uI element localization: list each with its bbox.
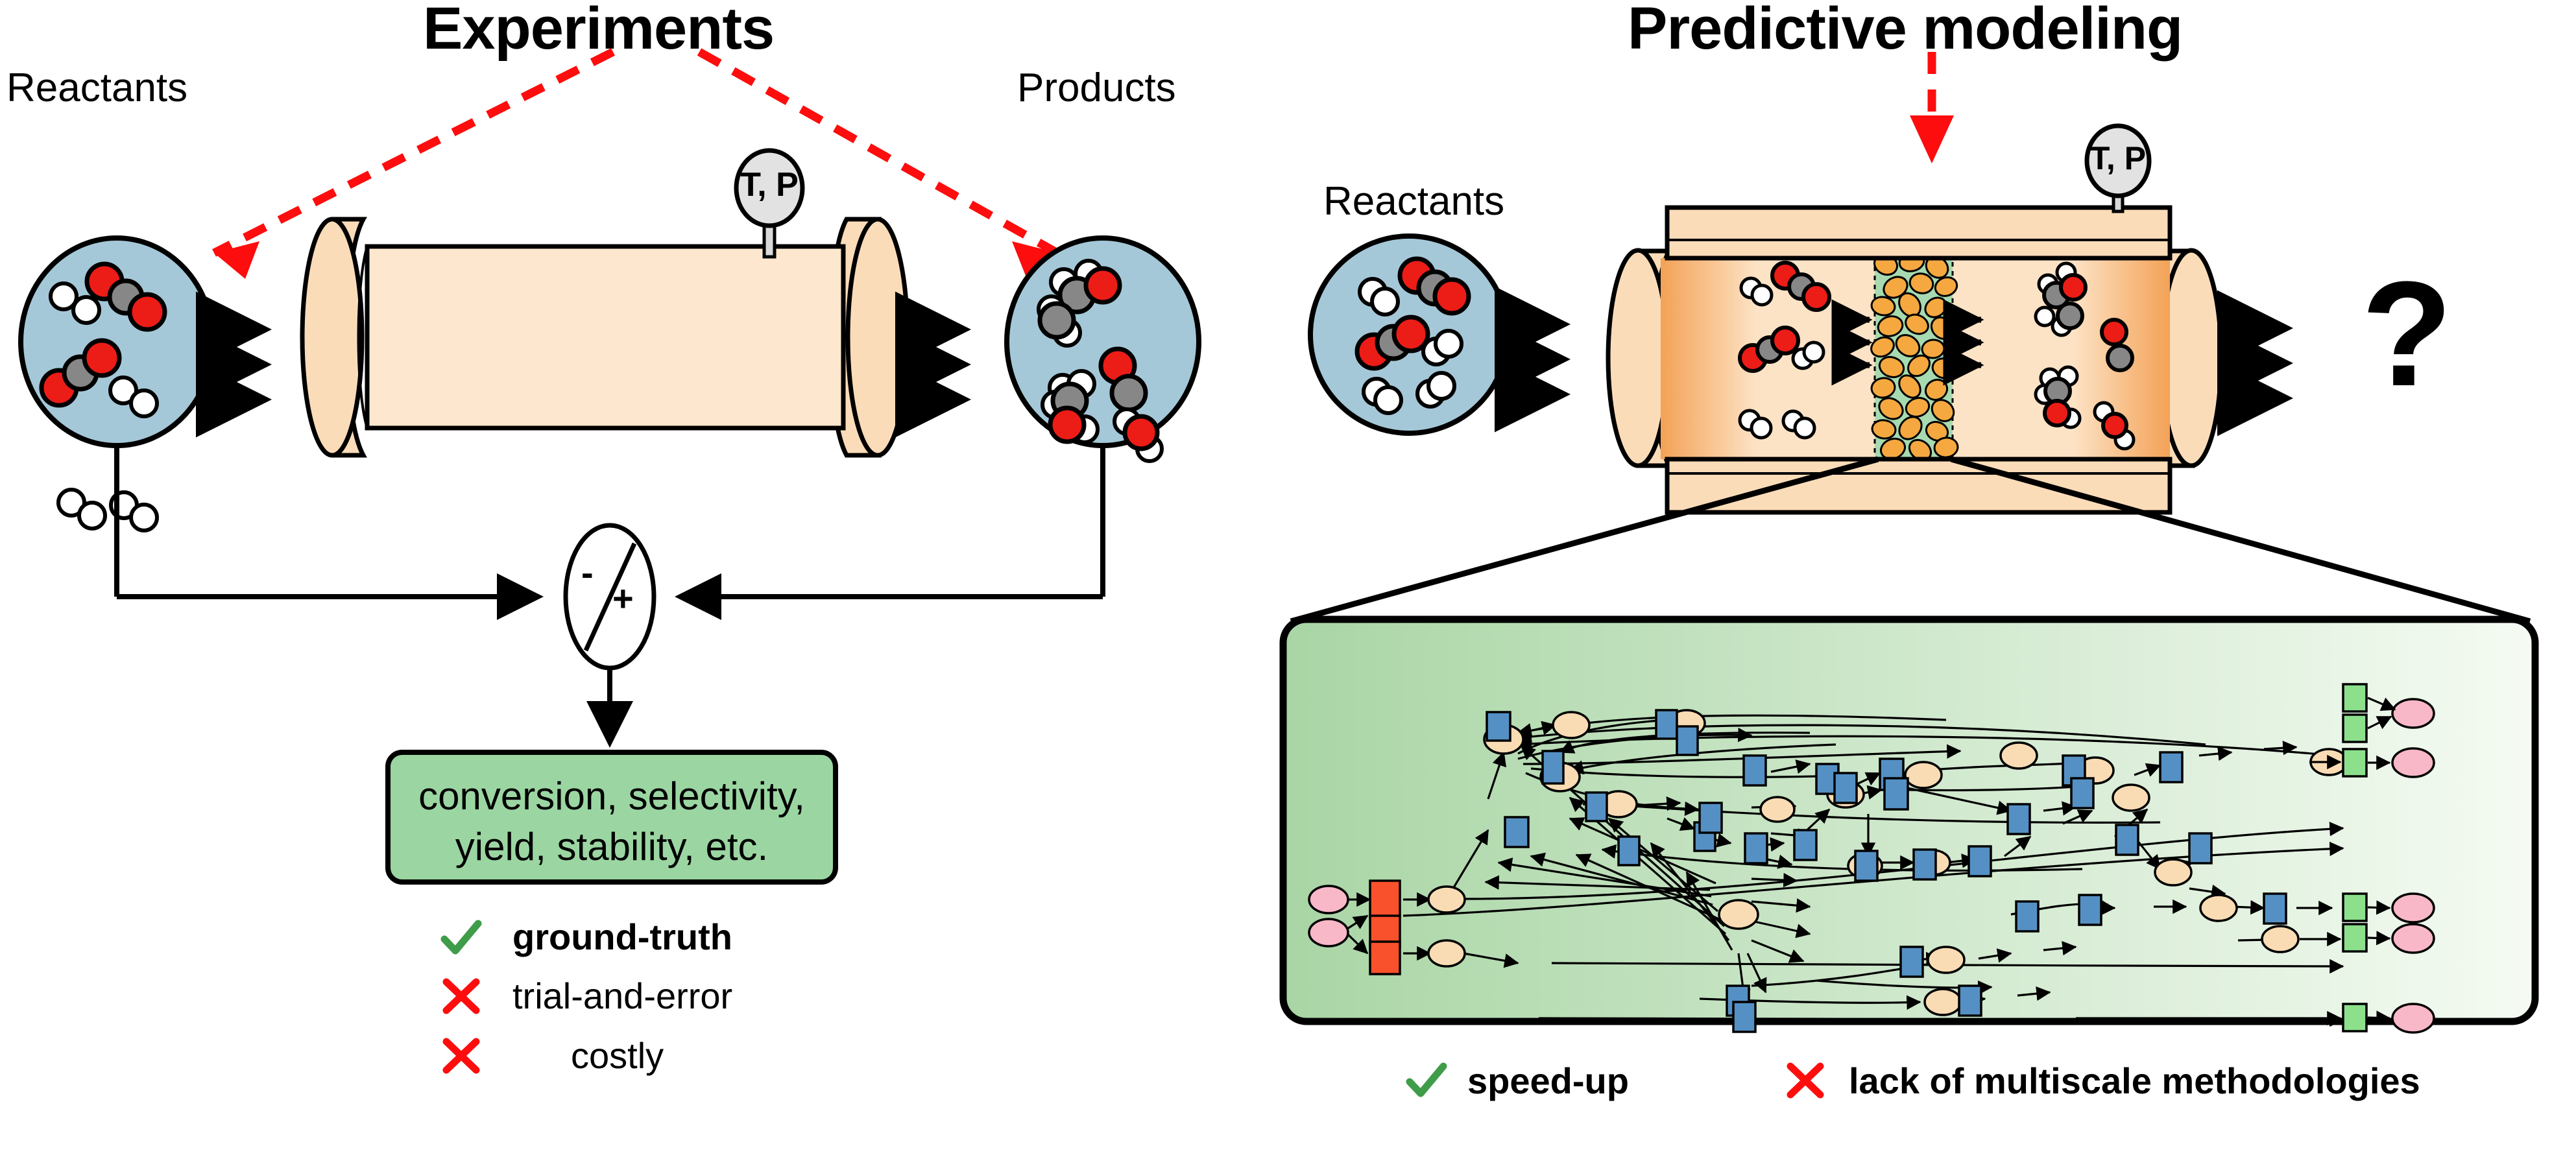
comparator-node	[566, 525, 654, 668]
legend-costly-label: costly	[571, 1034, 664, 1077]
cross-icon	[441, 978, 477, 1014]
network-inlet-terminal	[1309, 919, 1348, 946]
left-inlet-flow-arrows	[228, 329, 263, 400]
legend-speedup-label: speed-up	[1467, 1060, 1629, 1102]
legend-trial-and-error-label: trial-and-error	[512, 975, 732, 1017]
cross-icon	[441, 1038, 477, 1074]
network-inlet-reaction	[1370, 942, 1400, 974]
left-reactants-label: Reactants	[6, 65, 187, 111]
check-icon	[441, 920, 477, 956]
network-inlet-reaction	[1370, 881, 1400, 917]
check-icon	[1406, 1062, 1443, 1099]
cross-icon	[1785, 1062, 1822, 1099]
right-reactor-vessel	[1608, 126, 2221, 512]
question-mark: ?	[2361, 259, 2453, 409]
right-reactants-sphere	[1310, 236, 1508, 433]
legend-ground-truth-label: ground-truth	[512, 916, 732, 958]
right-gauge-label: T, P	[2081, 139, 2155, 177]
output-metrics-line-2: yield, stability, etc.	[388, 822, 836, 872]
legend-lack-multiscale-label: lack of multiscale methodologies	[1849, 1060, 2420, 1102]
network-inlet-terminal	[1309, 886, 1348, 913]
output-metrics-line-1: conversion, selectivity,	[388, 772, 836, 822]
left-products-sphere	[1007, 238, 1199, 461]
diagram-canvas	[0, 0, 2576, 1157]
comparator-minus-label: -	[581, 551, 594, 593]
predictive-pointer	[1910, 52, 1954, 163]
comparator-plus-label: +	[612, 577, 634, 619]
left-outlet-flow-arrows	[928, 329, 963, 400]
left-products-label: Products	[1017, 65, 1176, 111]
right-reactants-label: Reactants	[1323, 178, 1504, 224]
right-outlet-flow-arrows	[2246, 328, 2285, 398]
left-reactor-vessel	[302, 150, 908, 455]
right-inlet-flow-arrows	[1526, 324, 1562, 394]
figure-root: Experiments Predictive modeling	[0, 0, 2576, 1157]
left-gauge-label: T, P	[732, 165, 806, 204]
